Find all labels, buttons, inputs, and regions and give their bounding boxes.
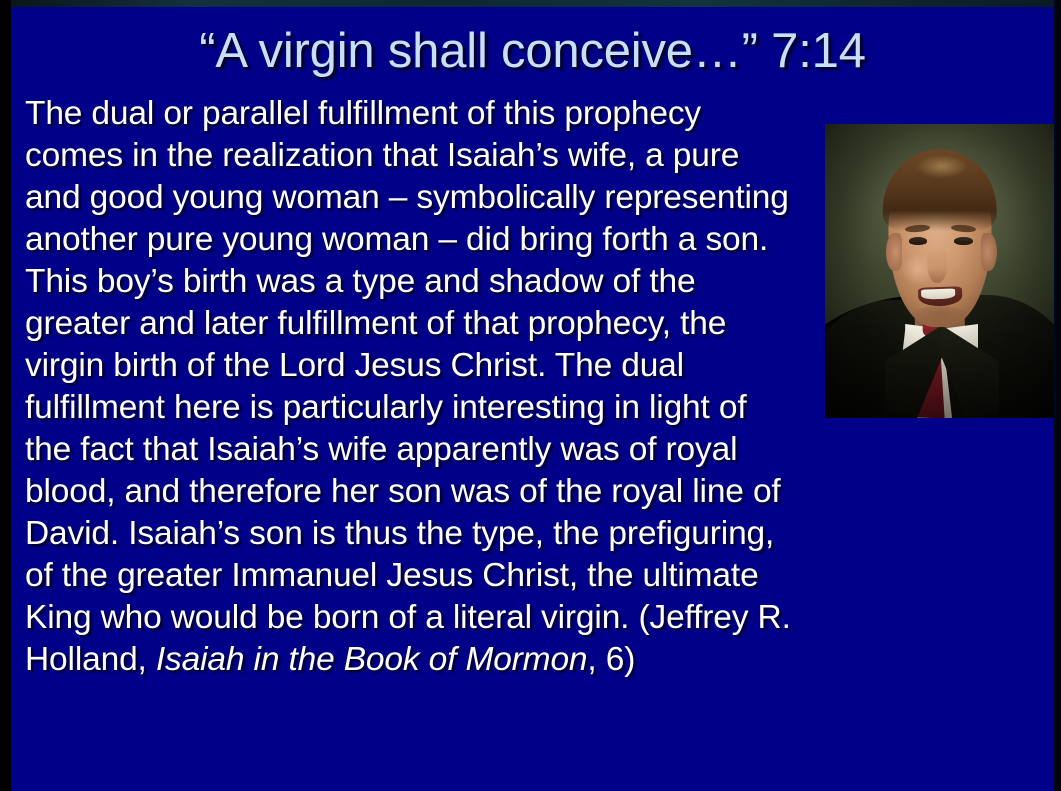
- body-line: David. Isaiah’s son is thus the type, th…: [14, 513, 1049, 555]
- body-line: the fact that Isaiah’s wife apparently w…: [14, 429, 1049, 471]
- portrait-vignette: [825, 124, 1054, 418]
- presentation-slide: “A virgin shall conceive…” 7:14 The dual…: [0, 0, 1061, 791]
- citation-book-title: Isaiah in the Book of Mormon: [156, 641, 588, 678]
- top-edge-strip: [0, 0, 1061, 7]
- citation-author: Holland,: [25, 641, 156, 678]
- body-line: blood, and therefore her son was of the …: [14, 471, 1049, 513]
- portrait-photo-image: [825, 124, 1054, 418]
- right-edge-gutter: [1054, 0, 1061, 791]
- slide-canvas: “A virgin shall conceive…” 7:14 The dual…: [11, 7, 1054, 791]
- citation-page: , 6): [587, 641, 635, 678]
- body-line: of the greater Immanuel Jesus Christ, th…: [14, 555, 1049, 597]
- citation-line: Holland, Isaiah in the Book of Mormon, 6…: [14, 639, 1049, 681]
- left-edge-gutter: [0, 0, 11, 791]
- speaker-portrait: [825, 124, 1054, 418]
- slide-title: “A virgin shall conceive…” 7:14: [11, 23, 1054, 79]
- body-line: King who would be born of a literal virg…: [14, 597, 1049, 639]
